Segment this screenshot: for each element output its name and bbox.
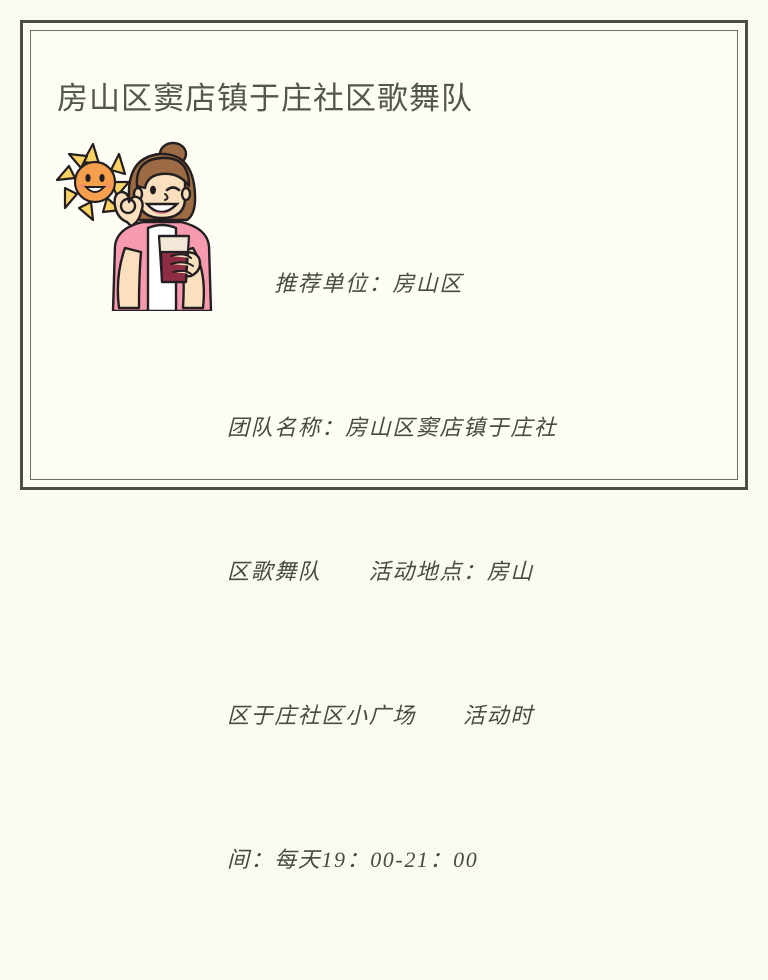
article-card-page: 房山区窦店镇于庄社区歌舞队 [0, 0, 768, 510]
body-line: 间：每天19：00-21：00 [227, 836, 667, 884]
body-line: 区于庄社区小广场 活动时 [227, 692, 667, 740]
card-content: 房山区窦店镇于庄社区歌舞队 [31, 31, 737, 479]
woman-figure [113, 143, 211, 311]
body-line: 区歌舞队 活动地点：房山 [227, 548, 667, 596]
page-title: 房山区窦店镇于庄社区歌舞队 [57, 79, 473, 119]
article-body: 推荐单位：房山区 团队名称：房山区窦店镇于庄社 区歌舞队 活动地点：房山 区于庄… [227, 164, 667, 980]
drink-glass [159, 236, 189, 282]
body-line: 推荐单位：房山区 [227, 260, 667, 308]
illustration-woman-with-drink [53, 136, 223, 311]
body-line: 团队名称：房山区窦店镇于庄社 [227, 404, 667, 452]
